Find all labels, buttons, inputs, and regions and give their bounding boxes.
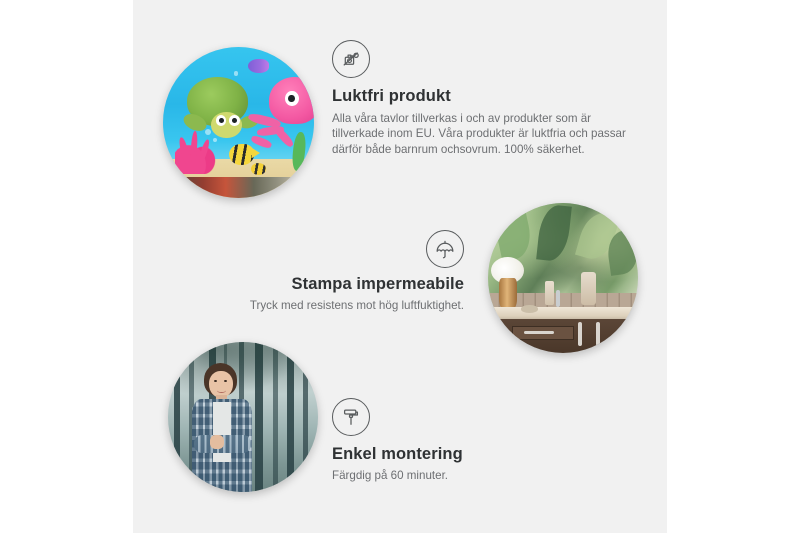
feature-title: Luktfri produkt <box>332 87 628 106</box>
wallpaper-leaf <box>536 204 572 263</box>
turtle-eye-left <box>216 115 227 126</box>
feature-easy-mounting: Enkel montering Färgdig på 60 minuter. <box>332 398 622 483</box>
bathroom-illustration <box>488 203 638 353</box>
product-photo-bathroom-vanity <box>488 203 638 353</box>
soap-dish <box>521 305 538 313</box>
woman-inner-shirt <box>213 402 231 462</box>
screenshot-canvas: Luktfri produkt Alla våra tavlor tillver… <box>0 0 800 533</box>
wallpaper-leaf <box>492 207 535 262</box>
waterproof-icon-wrap <box>180 230 464 268</box>
cabinet-handle <box>578 322 582 346</box>
photo-bottom-strip <box>175 177 302 198</box>
woman-smile <box>217 388 226 393</box>
pink-coral <box>175 129 220 174</box>
feature-description: Färgdig på 60 minuter. <box>332 468 622 483</box>
feature-odour-free: Luktfri produkt Alla våra tavlor tillver… <box>332 40 628 157</box>
octopus-eye <box>285 91 299 106</box>
umbrella-icon <box>426 230 464 268</box>
feature-description: Alla våra tavlor tillverkas i och av pro… <box>332 111 628 157</box>
product-photo-underwater-scene <box>163 47 314 198</box>
product-photo-painter-woman <box>168 342 318 492</box>
paint-roller-icon <box>332 398 370 436</box>
underwater-illustration <box>163 47 314 198</box>
feature-description: Tryck med resistens mot hög luftfuktighe… <box>180 298 464 313</box>
forest-canopy <box>168 342 318 405</box>
cabinet-handle <box>596 322 600 346</box>
purple-fish <box>248 59 269 73</box>
painter-illustration <box>168 342 318 492</box>
feature-title: Enkel montering <box>332 445 622 464</box>
drawer-handle <box>524 331 554 334</box>
turtle-eye-right <box>229 115 240 126</box>
woman-hand <box>210 435 224 449</box>
woman-face <box>209 371 233 398</box>
soap-bottle-small <box>545 281 554 305</box>
water-bubble <box>205 129 211 135</box>
water-bubble <box>213 138 217 142</box>
feature-title: Stampa impermeabile <box>180 275 464 294</box>
faucet <box>556 290 561 307</box>
feature-waterproof: Stampa impermeabile Tryck med resistens … <box>180 230 464 313</box>
soap-bottle-tall <box>581 272 596 305</box>
yellow-striped-fish <box>229 144 253 165</box>
no-spray-bottle-icon <box>332 40 370 78</box>
